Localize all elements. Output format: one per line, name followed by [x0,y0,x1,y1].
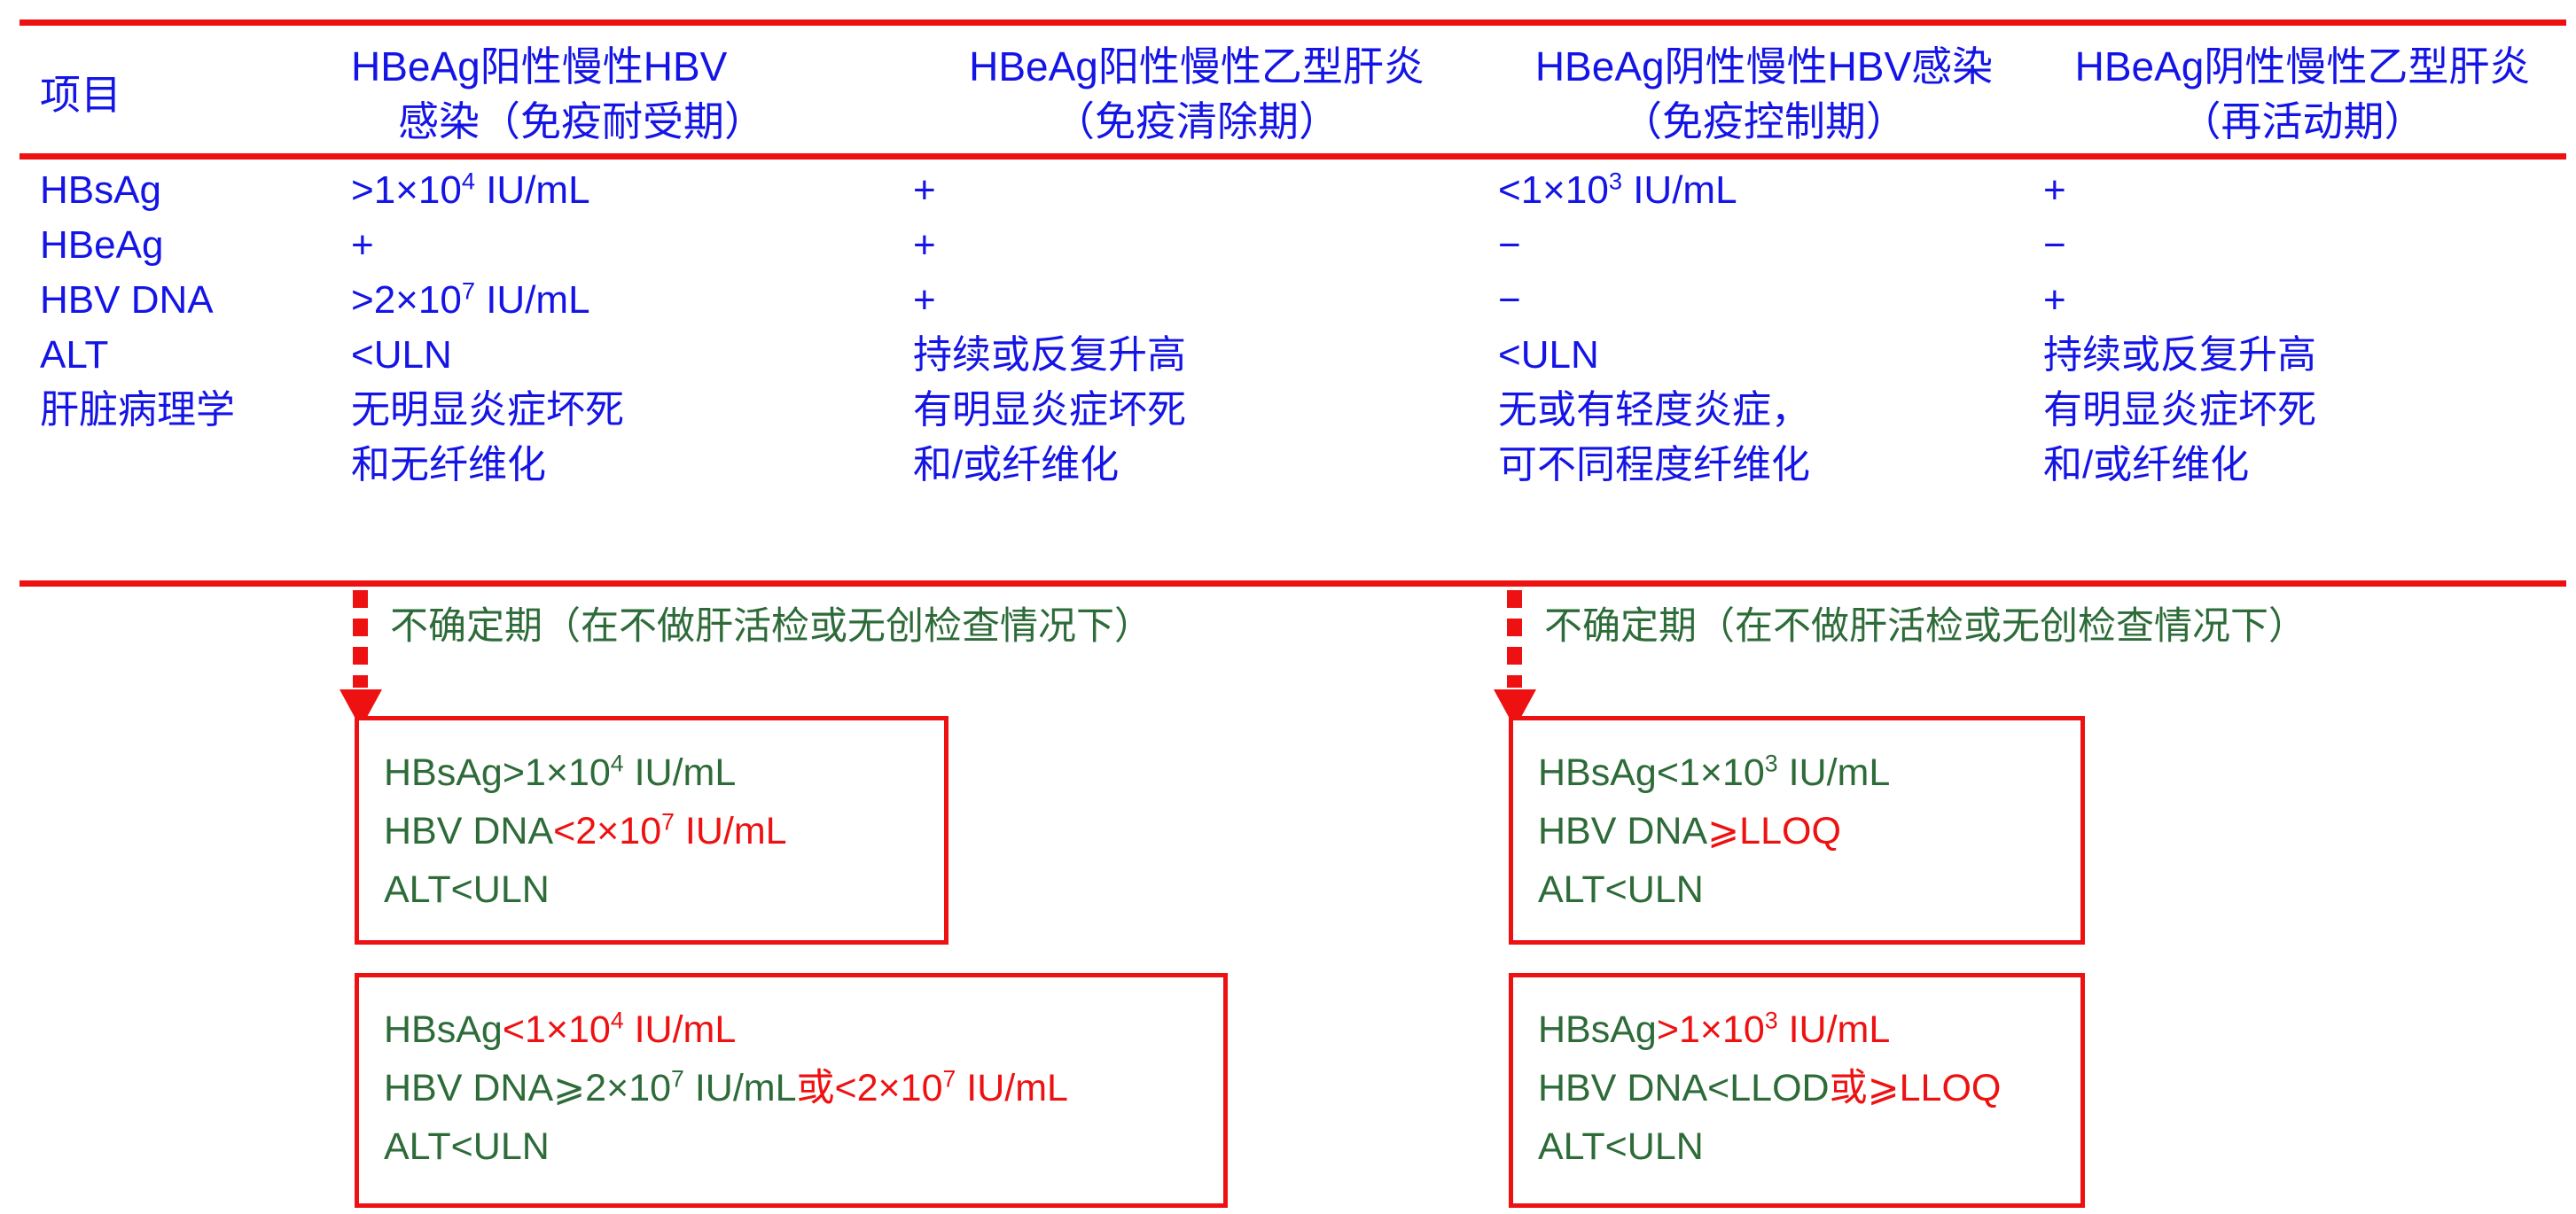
dash-segment [353,675,368,688]
table-row: ALT <ULN 持续或反复升高 <ULN 持续或反复升高 [0,333,2576,374]
row-value-col4: + [2043,278,2066,323]
table-row: HBeAg + + − − [0,223,2576,264]
row-value-col1: >2×107 IU/mL [351,278,590,323]
dash-segment [353,619,368,636]
row-value-col3: − [1498,278,1521,323]
criteria-line: HBsAg<1×103 IU/mL [1538,751,1890,795]
row-value-col1: >1×104 IU/mL [351,168,590,213]
table-header-rule [20,153,2566,160]
header-line2: 感染（免疫耐受期） [351,94,812,149]
row-value-col2: + [913,278,936,323]
row-value-col4: 有明显炎症坏死 [2043,388,2316,432]
criteria-line: HBsAg<1×104 IU/mL [384,1008,736,1052]
row-label: ALT [40,333,108,377]
header-cell-item: 项目 [40,67,121,122]
left-top-criteria-box: HBsAg>1×104 IU/mL HBV DNA<2×107 IU/mL AL… [355,716,948,945]
row-value-col4: 和/或纤维化 [2043,443,2249,487]
criteria-line: ALT<ULN [1538,1125,1704,1169]
row-value-col1: <ULN [351,333,452,377]
row-value-col3: <ULN [1498,333,1599,377]
criteria-line: ALT<ULN [384,1125,550,1169]
table-top-rule [20,19,2566,26]
table-row: 肝脏病理学 无明显炎症坏死 有明显炎症坏死 无或有轻度炎症， 有明显炎症坏死 [0,388,2576,429]
criteria-line: HBV DNA⩾LLOQ [1538,809,1841,853]
row-value-col1: + [351,223,374,268]
dash-segment [353,647,368,665]
row-value-col2: 和/或纤维化 [913,443,1119,487]
dash-segment [1507,590,1522,608]
criteria-line: HBV DNA⩾2×107 IU/mL或<2×107 IU/mL [384,1066,1068,1110]
dash-segment [1507,619,1522,636]
row-value-col1: 无明显炎症坏死 [351,388,624,432]
criteria-line: HBV DNA<LLOD或⩾LLOQ [1538,1066,2001,1110]
right-bottom-criteria-box: HBsAg>1×103 IU/mL HBV DNA<LLOD或⩾LLOQ ALT… [1509,973,2085,1208]
header-line2: （免疫控制期） [1498,94,2030,149]
left-bottom-criteria-box: HBsAg<1×104 IU/mL HBV DNA⩾2×107 IU/mL或<2… [355,973,1228,1208]
table-body-rule [20,580,2566,587]
header-cell-item-line1: 项目 [40,67,121,122]
left-indeterminate-note: 不确定期（在不做肝活检或无创检查情况下） [390,604,1152,649]
row-value-col3: 可不同程度纤维化 [1498,443,1810,487]
dash-segment [353,590,368,608]
header-cell-hbeag-positive-infection: HBeAg阳性慢性HBV 感染（免疫耐受期） [351,39,847,149]
row-value-col2: 持续或反复升高 [913,333,1186,377]
row-label: HBsAg [40,168,161,213]
row-value-col2: 有明显炎症坏死 [913,388,1186,432]
table-header-row: 项目 HBeAg阳性慢性HBV 感染（免疫耐受期） HBeAg阳性慢性乙型肝炎 … [0,35,2576,149]
criteria-line: HBsAg>1×104 IU/mL [384,751,736,795]
row-label: 肝脏病理学 [40,388,235,432]
table-row-continuation: 和无纤维化 和/或纤维化 可不同程度纤维化 和/或纤维化 [0,443,2576,484]
criteria-line: ALT<ULN [384,868,550,912]
header-line1: HBeAg阳性慢性乙型肝炎 [913,39,1480,94]
table-row: HBV DNA >2×107 IU/mL + − + [0,278,2576,319]
dash-segment [1507,647,1522,665]
row-value-col4: 持续或反复升高 [2043,333,2316,377]
header-line1: HBeAg阴性慢性乙型肝炎 [2039,39,2566,94]
header-line2: （免疫清除期） [913,94,1480,149]
row-label: HBV DNA [40,278,214,323]
row-label: HBeAg [40,223,163,268]
header-line2: （再活动期） [2039,94,2566,149]
header-line1: HBeAg阳性慢性HBV [351,39,847,94]
row-value-col3: − [1498,223,1521,268]
row-value-col1: 和无纤维化 [351,443,546,487]
header-line1: HBeAg阴性慢性HBV感染 [1498,39,2030,94]
row-value-col3: 无或有轻度炎症， [1498,388,1810,432]
criteria-line: ALT<ULN [1538,868,1704,912]
header-cell-hbeag-negative-infection: HBeAg阴性慢性HBV感染 （免疫控制期） [1498,39,2030,149]
right-top-criteria-box: HBsAg<1×103 IU/mL HBV DNA⩾LLOQ ALT<ULN [1509,716,2085,945]
row-value-col2: + [913,168,936,213]
row-value-col3: <1×103 IU/mL [1498,168,1737,213]
header-cell-hbeag-negative-hepatitis: HBeAg阴性慢性乙型肝炎 （再活动期） [2039,39,2566,149]
criteria-line: HBsAg>1×103 IU/mL [1538,1008,1890,1052]
criteria-line: HBV DNA<2×107 IU/mL [384,809,787,853]
table-row: HBsAg >1×104 IU/mL + <1×103 IU/mL + [0,168,2576,209]
row-value-col4: + [2043,168,2066,213]
dash-segment [1507,675,1522,688]
right-indeterminate-note: 不确定期（在不做肝活检或无创检查情况下） [1544,604,2307,649]
row-value-col2: + [913,223,936,268]
row-value-col4: − [2043,223,2066,268]
header-cell-hbeag-positive-hepatitis: HBeAg阳性慢性乙型肝炎 （免疫清除期） [913,39,1480,149]
